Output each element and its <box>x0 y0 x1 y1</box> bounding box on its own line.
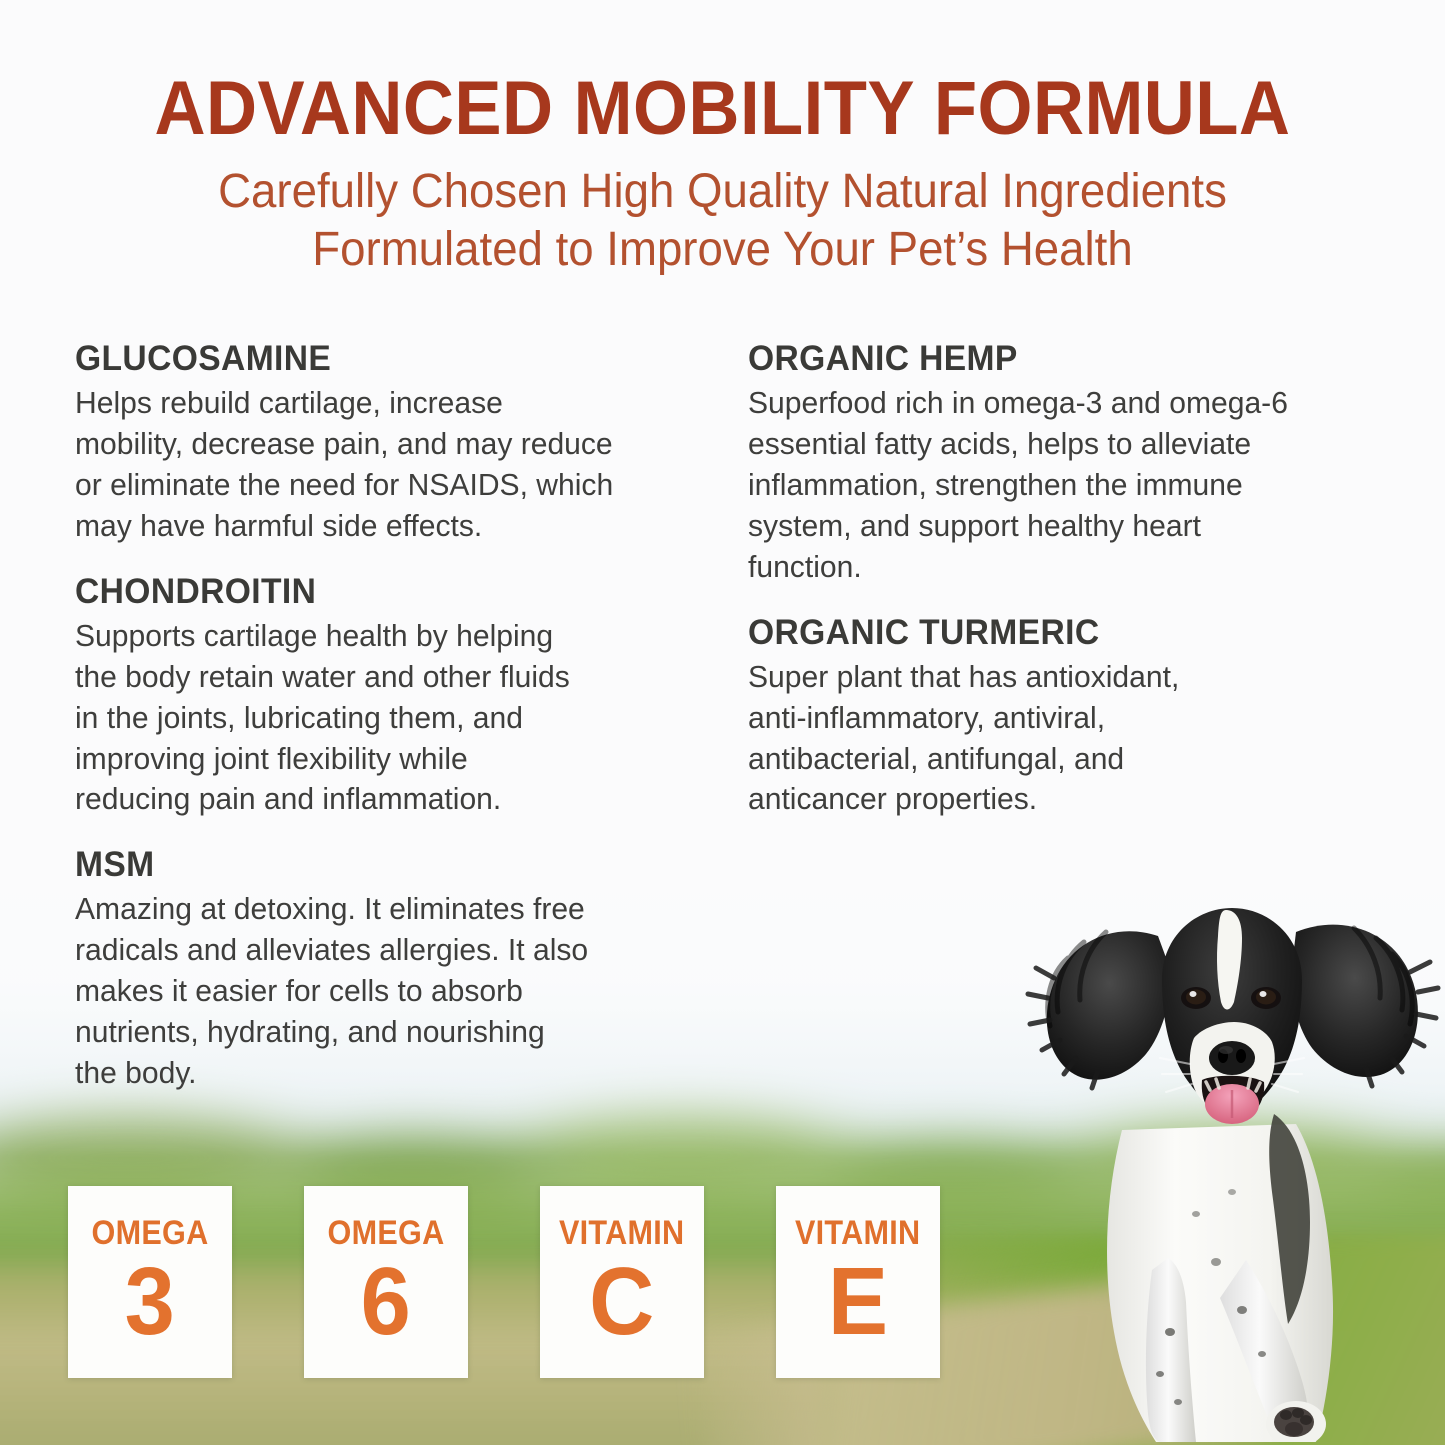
nutrient-card-label: VITAMIN <box>795 1216 920 1250</box>
ingredient-organic-hemp: ORGANIC HEMP Superfood rich in omega-3 a… <box>748 340 1368 588</box>
ingredient-line: may have harmful side effects. <box>75 506 681 547</box>
ingredient-title: GLUCOSAMINE <box>75 340 675 377</box>
ingredient-glucosamine: GLUCOSAMINE Helps rebuild cartilage, inc… <box>75 340 700 547</box>
ingredient-line: system, and support healthy heart <box>748 506 1349 547</box>
page-subtitle-line1: Carefully Chosen High Quality Natural In… <box>36 163 1409 221</box>
ingredient-line: mobility, decrease pain, and may reduce <box>75 424 681 465</box>
ingredient-line: radicals and alleviates allergies. It al… <box>75 930 681 971</box>
ingredient-line: Superfood rich in omega-3 and omega-6 <box>748 383 1349 424</box>
nutrient-card-label: OMEGA <box>328 1216 445 1250</box>
ingredient-title: ORGANIC HEMP <box>748 340 1343 377</box>
nutrient-card-value: E <box>828 1256 888 1348</box>
ingredient-title: CHONDROITIN <box>75 573 675 610</box>
ingredient-line: Supports cartilage health by helping <box>75 616 681 657</box>
nutrient-card-omega-6: OMEGA 6 <box>304 1186 468 1378</box>
nutrient-card-label: OMEGA <box>92 1216 209 1250</box>
ingredient-line: in the joints, lubricating them, and <box>75 698 681 739</box>
ingredient-line: anticancer properties. <box>748 779 1349 820</box>
ingredient-description: Supports cartilage health by helping the… <box>75 616 681 821</box>
ingredient-line: Helps rebuild cartilage, increase <box>75 383 681 424</box>
ingredient-line: essential fatty acids, helps to alleviat… <box>748 424 1349 465</box>
ingredients-section: GLUCOSAMINE Helps rebuild cartilage, inc… <box>0 340 1445 1160</box>
ingredient-line: function. <box>748 547 1349 588</box>
nutrient-cards: OMEGA 3 OMEGA 6 VITAMIN C VITAMIN E <box>68 1186 968 1378</box>
ingredient-line: makes it easier for cells to absorb <box>75 971 681 1012</box>
ingredient-line: antibacterial, antifungal, and <box>748 739 1349 780</box>
ingredients-column-right: ORGANIC HEMP Superfood rich in omega-3 a… <box>748 340 1368 846</box>
page-title: ADVANCED MOBILITY FORMULA <box>51 72 1395 146</box>
ingredient-chondroitin: CHONDROITIN Supports cartilage health by… <box>75 573 700 821</box>
ingredients-column-left: GLUCOSAMINE Helps rebuild cartilage, inc… <box>75 340 700 1120</box>
ingredient-line: Super plant that has antioxidant, <box>748 657 1349 698</box>
ingredient-description: Helps rebuild cartilage, increase mobili… <box>75 383 681 547</box>
nutrient-card-omega-3: OMEGA 3 <box>68 1186 232 1378</box>
header-block: ADVANCED MOBILITY FORMULA Carefully Chos… <box>0 72 1445 279</box>
nutrient-card-value: 3 <box>125 1256 175 1348</box>
ingredient-line: improving joint flexibility while <box>75 739 681 780</box>
nutrient-card-vitamin-e: VITAMIN E <box>776 1186 940 1378</box>
nutrient-card-vitamin-c: VITAMIN C <box>540 1186 704 1378</box>
ingredient-line: anti-inflammatory, antiviral, <box>748 698 1349 739</box>
nutrient-card-label: VITAMIN <box>559 1216 684 1250</box>
ingredient-line: or eliminate the need for NSAIDS, which <box>75 465 681 506</box>
ingredient-description: Amazing at detoxing. It eliminates free … <box>75 889 681 1094</box>
page-subtitle: Carefully Chosen High Quality Natural In… <box>36 163 1409 278</box>
ingredient-description: Super plant that has antioxidant, anti-i… <box>748 657 1349 821</box>
nutrient-card-value: 6 <box>361 1256 411 1348</box>
infographic-page: ADVANCED MOBILITY FORMULA Carefully Chos… <box>0 0 1445 1445</box>
ingredient-line: the body retain water and other fluids <box>75 657 681 698</box>
ingredient-line: Amazing at detoxing. It eliminates free <box>75 889 681 930</box>
ingredient-title: MSM <box>75 846 675 883</box>
ingredient-description: Superfood rich in omega-3 and omega-6 es… <box>748 383 1349 588</box>
page-subtitle-line2: Formulated to Improve Your Pet’s Health <box>36 221 1409 279</box>
ingredient-line: nutrients, hydrating, and nourishing <box>75 1012 681 1053</box>
nutrient-card-value: C <box>589 1256 654 1348</box>
ingredient-title: ORGANIC TURMERIC <box>748 614 1343 651</box>
ingredient-line: reducing pain and inflammation. <box>75 779 681 820</box>
ingredient-organic-turmeric: ORGANIC TURMERIC Super plant that has an… <box>748 614 1368 821</box>
ingredient-line: the body. <box>75 1053 681 1094</box>
ingredient-line: inflammation, strengthen the immune <box>748 465 1349 506</box>
ingredient-msm: MSM Amazing at detoxing. It eliminates f… <box>75 846 700 1094</box>
